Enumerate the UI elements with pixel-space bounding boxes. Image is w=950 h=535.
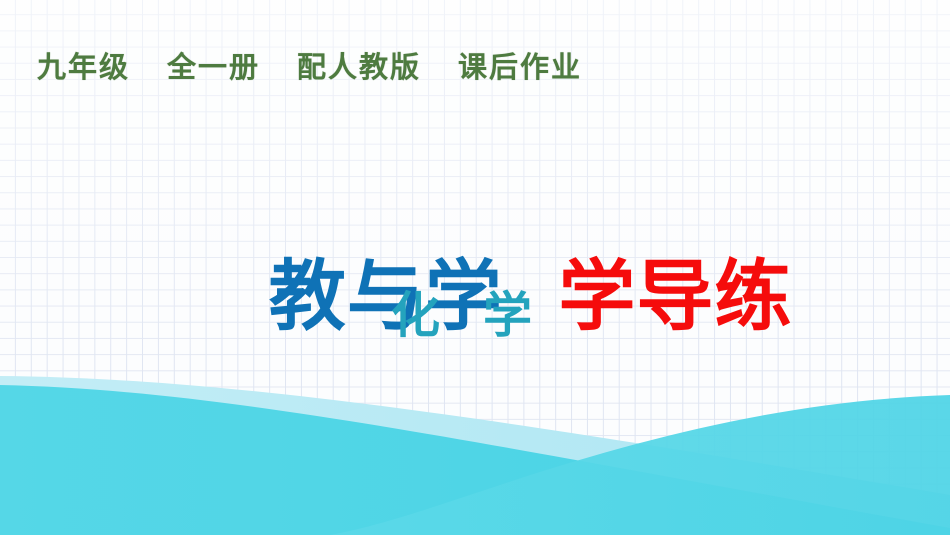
header-subject-line: 九年级 全一册 配人教版 课后作业 [37, 44, 582, 86]
subject-subtitle: 化 学 [0, 287, 950, 345]
title-slide: 九年级 全一册 配人教版 课后作业 教与学 学导练 化 学 [0, 0, 950, 535]
